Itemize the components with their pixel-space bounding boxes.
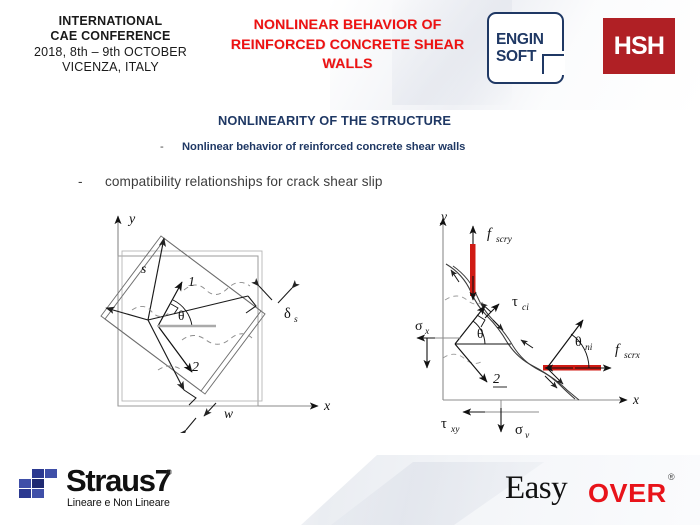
enginsoft-logo-line-2: SOFT [496, 49, 544, 66]
conference-line-4: VICENZA, ITALY [8, 60, 213, 75]
right-label-sigma-y: σ y [515, 422, 530, 438]
enginsoft-logo-text: ENGIN SOFT [496, 32, 544, 65]
sigma-y-symbol: σ [515, 422, 523, 438]
sigma-y-subscript: y [524, 431, 530, 438]
straus7-logo-grid-icon [18, 469, 62, 501]
straus7-logo-text: Straus7 [66, 463, 171, 499]
straus7-logo-tagline: Lineare e Non Lineare [67, 497, 170, 509]
left-label-w: w [224, 406, 233, 421]
right-theta-label: θ [477, 326, 483, 341]
easyover-logo-text-over: OVER [588, 478, 667, 509]
easyover-logo-text-easy: Easy [505, 470, 567, 507]
sub-heading-text: Nonlinear behavior of reinforced concret… [182, 141, 465, 153]
f-scrx-subscript: scrx [624, 351, 641, 361]
sigma-x-symbol: σ [415, 319, 423, 334]
left-label-delta-s: δ s [284, 306, 298, 325]
left-label-dir2: 2 [192, 360, 199, 375]
presentation-slide: INTERNATIONAL CAE CONFERENCE 2018, 8th –… [0, 0, 700, 525]
conference-line-2: CAE CONFERENCE [8, 29, 213, 44]
right-label-dir2: 2 [493, 372, 500, 387]
enginsoft-logo: ENGIN SOFT [487, 12, 564, 84]
hsh-logo-text: HSH [614, 32, 664, 61]
figure-right-svg: x y [415, 208, 670, 438]
right-label-f-scrx: f scrx [615, 342, 641, 361]
f-scry-subscript: scry [496, 235, 513, 245]
enginsoft-logo-line-1: ENGIN [496, 32, 544, 49]
f-scry-symbol: f [487, 226, 493, 242]
sub-heading: -Nonlinear behavior of reinforced concre… [160, 141, 465, 153]
tau-ci-subscript: ci [522, 303, 529, 313]
straus7-registered-mark: ® [166, 468, 172, 477]
body-bullet-text: compatibility relationships for crack sh… [105, 174, 383, 189]
left-label-delta: δ [284, 306, 291, 322]
left-label-s: s [141, 261, 146, 276]
left-label-delta-sub: s [294, 315, 298, 325]
enginsoft-logo-notch [542, 54, 564, 74]
theta-ni-symbol: θ [575, 335, 582, 350]
body-bullet-item: -compatibility relationships for crack s… [78, 174, 383, 189]
conference-info-block: INTERNATIONAL CAE CONFERENCE 2018, 8th –… [8, 14, 213, 75]
figure-crack-stress-equilibrium: x y [415, 208, 670, 438]
theta-ni-subscript: ni [585, 343, 593, 353]
left-axis-x-label: x [323, 399, 331, 414]
right-label-tau-xy: τ xy [441, 416, 460, 435]
figure-left-svg: x y [96, 208, 341, 433]
easyover-logo: Easy OVER ® [505, 470, 680, 514]
easyover-registered-mark: ® [668, 472, 675, 482]
sigma-x-subscript: x [424, 327, 430, 337]
left-label-dir1: 1 [188, 275, 195, 290]
right-label-sigma-x: σ x [415, 319, 430, 337]
hsh-logo: HSH [603, 18, 675, 74]
right-axis-y-label: y [439, 209, 447, 224]
tau-xy-symbol: τ [441, 416, 447, 432]
figure-crack-slip-kinematics: x y [96, 208, 341, 433]
tau-ci-symbol: τ [512, 294, 518, 310]
left-theta-label: θ [178, 308, 184, 323]
right-label-f-scry: f scry [487, 226, 513, 245]
right-label-tau-ci: τ ci [512, 294, 529, 313]
straus7-logo: Straus7 ® Lineare e Non Lineare [18, 466, 203, 514]
left-axis-y-label: y [127, 212, 136, 227]
body-bullet-marker: - [78, 174, 105, 189]
section-heading: NONLINEARITY OF THE STRUCTURE [218, 113, 451, 128]
slide-title: NONLINEAR BEHAVIOR OF REINFORCED CONCRET… [215, 16, 480, 75]
tau-xy-subscript: xy [450, 425, 460, 435]
f-scrx-symbol: f [615, 342, 621, 358]
sub-heading-marker: - [160, 141, 182, 153]
conference-line-1: INTERNATIONAL [8, 14, 213, 29]
right-label-theta-ni: θ ni [575, 335, 593, 353]
conference-line-3: 2018, 8th – 9th OCTOBER [8, 45, 213, 60]
right-axis-x-label: x [632, 392, 639, 407]
